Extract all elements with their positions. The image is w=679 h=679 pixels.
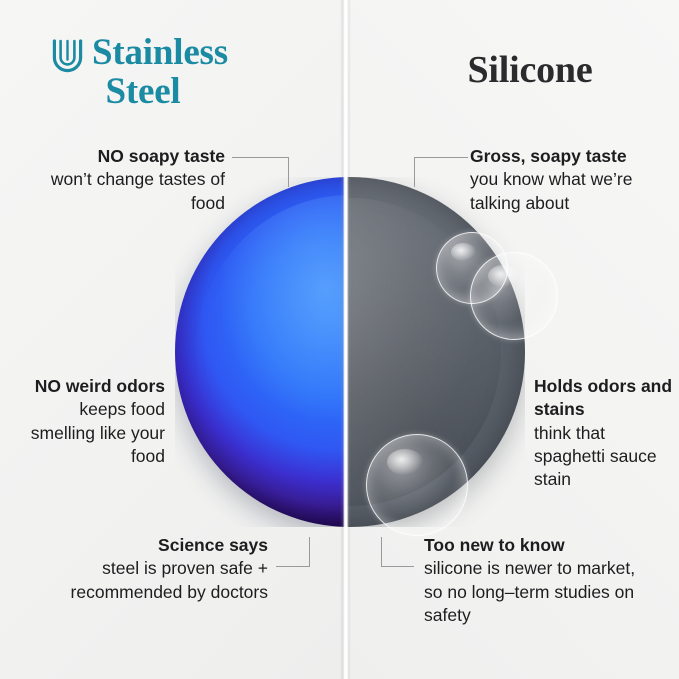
left-header-title-line2: Steel — [92, 73, 228, 112]
callout-right-too-new: Too new to know silicone is newer to mar… — [424, 534, 654, 627]
callout-right-odors: Holds odors and stains think that spaghe… — [534, 375, 674, 491]
callout-left-science-body: steel is proven safe + recommended by do… — [15, 557, 268, 604]
callout-right-taste: Gross, soapy taste you know what we’re t… — [470, 145, 670, 215]
left-header-title: Stainless Steel — [92, 34, 228, 112]
callout-right-too-new-body: silicone is newer to market, so no long–… — [424, 557, 654, 627]
callout-right-taste-body: you know what we’re talking about — [470, 168, 670, 215]
soap-bubble-upper-large — [470, 252, 558, 340]
callout-left-odors-body: keeps food smelling like your food — [20, 398, 165, 468]
callout-right-odors-head: Holds odors and stains — [534, 375, 674, 422]
comparison-infographic: Stainless Steel Silicone NO soapy taste … — [0, 0, 679, 679]
center-divider — [340, 0, 351, 679]
soap-bubble-lower — [366, 434, 468, 536]
callout-left-science: Science says steel is proven safe + reco… — [15, 534, 268, 604]
left-header-title-line1: Stainless — [92, 32, 228, 73]
callout-right-too-new-head: Too new to know — [424, 534, 654, 557]
right-header-title: Silicone — [400, 48, 660, 92]
right-header: Silicone — [400, 48, 660, 92]
callout-right-taste-head: Gross, soapy taste — [470, 145, 670, 168]
callout-left-taste-body: won’t change tastes of food — [20, 168, 225, 215]
left-header: Stainless Steel — [52, 34, 322, 112]
callout-left-science-head: Science says — [15, 534, 268, 557]
callout-left-odors-head: NO weird odors — [20, 375, 165, 398]
callout-left-odors: NO weird odors keeps food smelling like … — [20, 375, 165, 468]
callout-right-odors-body: think that spaghetti sauce stain — [534, 422, 674, 492]
stainless-steel-u-logo-icon — [52, 37, 83, 75]
callout-left-taste: NO soapy taste won’t change tastes of fo… — [20, 145, 225, 215]
callout-left-taste-head: NO soapy taste — [20, 145, 225, 168]
